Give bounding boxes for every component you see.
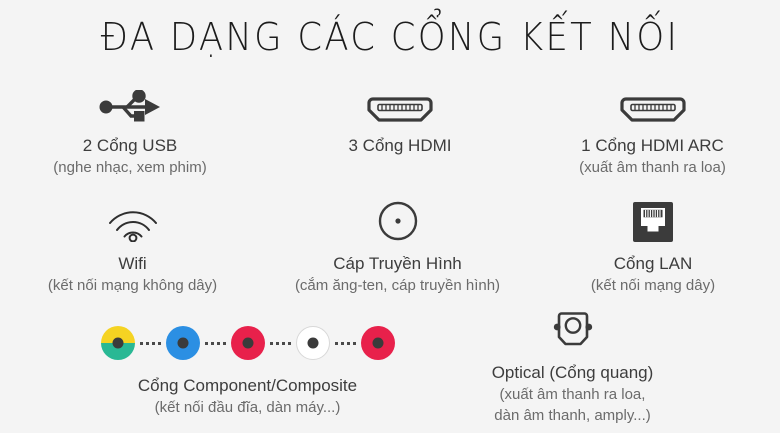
port-label: Cáp Truyền Hình (265, 252, 530, 275)
hdmi-port-icon (525, 80, 780, 124)
port-sublabel: (nghe nhạc, xem phim) (0, 157, 260, 178)
port-label: Cổng Component/Composite (60, 374, 435, 397)
port-item-optical: Optical (Cổng quang) (xuất âm thanh ra l… (450, 305, 695, 426)
cable-dots (135, 342, 166, 345)
port-label: Optical (Cổng quang) (450, 361, 695, 384)
wifi-icon (5, 198, 260, 242)
port-sublabel: (kết nối đầu đĩa, dàn máy...) (60, 397, 435, 418)
port-label: 1 Cổng HDMI ARC (525, 134, 780, 157)
rca-connectors-icon (60, 318, 435, 360)
connectivity-infographic: ĐA DẠNG CÁC CỔNG KẾT NỐI 2 Cổng USB (ngh… (0, 0, 780, 433)
composite-red-connector (361, 326, 395, 360)
cable-dots (265, 342, 296, 345)
port-label: Cổng LAN (528, 252, 778, 275)
port-label: 2 Cổng USB (0, 134, 260, 157)
port-sublabel: (cắm ăng-ten, cáp truyền hình) (265, 275, 530, 296)
page-title: ĐA DẠNG CÁC CỔNG KẾT NỐI (27, 14, 752, 60)
component-blue-connector (166, 326, 200, 360)
port-sublabel: (kết nối mạng không dây) (5, 275, 260, 296)
port-item-coaxial: Cáp Truyền Hình (cắm ăng-ten, cáp truyền… (265, 198, 530, 296)
port-item-component-composite: Cổng Component/Composite (kết nối đầu đĩ… (60, 318, 435, 418)
ethernet-rj45-icon (528, 198, 778, 242)
coaxial-antenna-icon (265, 198, 530, 242)
port-label: 3 Cổng HDMI (270, 134, 530, 157)
optical-toslink-icon (450, 305, 695, 353)
port-label: Wifi (5, 252, 260, 275)
port-item-wifi: Wifi (kết nối mạng không dây) (5, 198, 260, 296)
usb-icon (0, 80, 260, 124)
component-green-yellow-connector (101, 326, 135, 360)
composite-white-connector (296, 326, 330, 360)
hdmi-port-icon (270, 80, 530, 124)
port-sublabel: (kết nối mạng dây) (528, 275, 778, 296)
cable-dots (200, 342, 231, 345)
component-red-connector (231, 326, 265, 360)
port-item-hdmi: 3 Cổng HDMI (270, 80, 530, 157)
port-sublabel-line1: (xuất âm thanh ra loa, (450, 384, 695, 405)
cable-dots (330, 342, 361, 345)
port-sublabel-line2: dàn âm thanh, amply...) (450, 405, 695, 426)
port-item-hdmi-arc: 1 Cổng HDMI ARC (xuất âm thanh ra loa) (525, 80, 780, 178)
port-sublabel: (xuất âm thanh ra loa) (525, 157, 780, 178)
port-item-usb: 2 Cổng USB (nghe nhạc, xem phim) (0, 80, 260, 178)
rca-connector-strip (101, 326, 395, 360)
port-item-lan: Cổng LAN (kết nối mạng dây) (528, 198, 778, 296)
